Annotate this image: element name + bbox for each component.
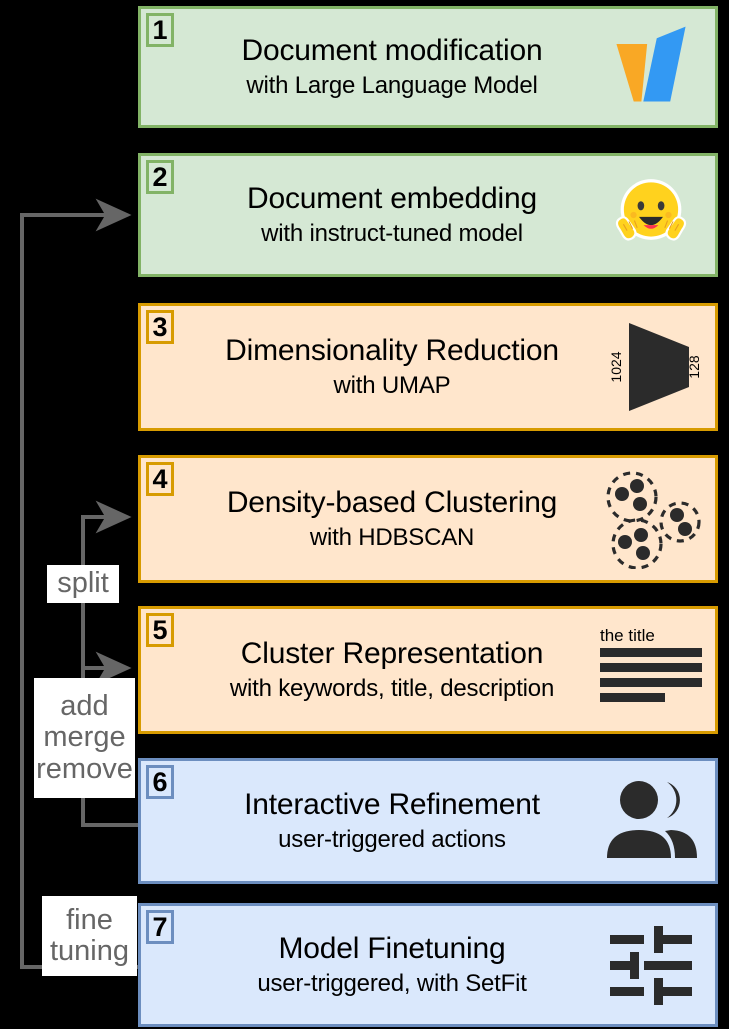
step-icon-slot: the title: [595, 609, 707, 731]
funnel-trapezoid-icon: 1024 128: [597, 317, 705, 417]
document-line: [600, 693, 665, 702]
edge-label-fine-text: fine: [66, 905, 113, 936]
step-text-group: Model Finetuning user-triggered, with Se…: [185, 906, 599, 1024]
sliders-icon: [608, 924, 694, 1006]
step-subtitle: with keywords, title, description: [230, 675, 554, 703]
step-title: Document embedding: [247, 182, 537, 216]
document-line: [600, 663, 702, 672]
people-icon: [599, 778, 703, 864]
step-icon-slot: [595, 761, 707, 881]
hugging-face-emoji-icon: [605, 169, 697, 261]
funnel-input-dim-label: 1024: [608, 351, 624, 382]
edge-label-fine-tuning: fine tuning: [42, 896, 137, 976]
step-title: Dimensionality Reduction: [225, 334, 559, 368]
step-title: Document modification: [242, 34, 543, 68]
cluster-dots-icon: [599, 469, 703, 569]
step-title: Density-based Clustering: [227, 486, 557, 520]
step-text-group: Density-based Clustering with HDBSCAN: [185, 458, 599, 580]
vicuna-v-logo-icon: [603, 19, 699, 115]
step-text-group: Document modification with Large Languag…: [185, 9, 599, 125]
step-text-group: Interactive Refinement user-triggered ac…: [185, 761, 599, 881]
step-subtitle: with UMAP: [334, 372, 451, 400]
edge-label-add-merge-remove: add merge remove: [34, 678, 135, 798]
document-line: [600, 648, 702, 657]
edge-label-add-text: add: [60, 691, 108, 722]
step-subtitle: with Large Language Model: [246, 72, 537, 100]
step-icon-slot: [595, 156, 707, 274]
step-title: Model Finetuning: [279, 932, 506, 966]
document-line: [600, 678, 702, 687]
step-text-group: Document embedding with instruct-tuned m…: [185, 156, 599, 274]
edge-label-split: split: [47, 565, 119, 603]
diagram-canvas: 1 Document modification with Large Langu…: [0, 0, 729, 1029]
funnel-output-dim-label: 128: [686, 355, 702, 379]
step-number-badge: 7: [146, 910, 174, 944]
step-box-7[interactable]: 7 Model Finetuning user-triggered, with …: [138, 903, 718, 1027]
step-box-5[interactable]: 5 Cluster Representation with keywords, …: [138, 606, 718, 734]
step-box-1[interactable]: 1 Document modification with Large Langu…: [138, 6, 718, 128]
step-icon-slot: [595, 906, 707, 1024]
step-title: Cluster Representation: [241, 637, 543, 671]
step-number-badge: 3: [146, 310, 174, 344]
step-number-badge: 6: [146, 765, 174, 799]
step-box-6[interactable]: 6 Interactive Refinement user-triggered …: [138, 758, 718, 884]
step-title: Interactive Refinement: [244, 788, 540, 822]
step-subtitle: user-triggered, with SetFit: [257, 970, 526, 998]
step-number-badge: 1: [146, 13, 174, 47]
step-number-badge: 4: [146, 462, 174, 496]
edge-label-remove-text: remove: [36, 754, 133, 785]
document-lines-icon: the title: [600, 627, 702, 713]
step-text-group: Cluster Representation with keywords, ti…: [185, 609, 599, 731]
step-number-badge: 2: [146, 160, 174, 194]
document-title-label: the title: [600, 627, 655, 644]
step-icon-slot: [595, 458, 707, 580]
step-number-badge: 5: [146, 613, 174, 647]
step-subtitle: user-triggered actions: [278, 826, 506, 854]
step-box-2[interactable]: 2 Document embedding with instruct-tuned…: [138, 153, 718, 277]
step-icon-slot: 1024 128: [595, 306, 707, 428]
step-box-3[interactable]: 3 Dimensionality Reduction with UMAP 102…: [138, 303, 718, 431]
step-subtitle: with HDBSCAN: [310, 524, 474, 552]
edge-label-tuning-text: tuning: [50, 936, 129, 967]
edge-label-merge-text: merge: [43, 722, 125, 753]
step-subtitle: with instruct-tuned model: [261, 220, 523, 248]
step-box-4[interactable]: 4 Density-based Clustering with HDBSCAN: [138, 455, 718, 583]
step-icon-slot: [595, 9, 707, 125]
edge-label-split-text: split: [57, 568, 109, 599]
step-text-group: Dimensionality Reduction with UMAP: [185, 306, 599, 428]
